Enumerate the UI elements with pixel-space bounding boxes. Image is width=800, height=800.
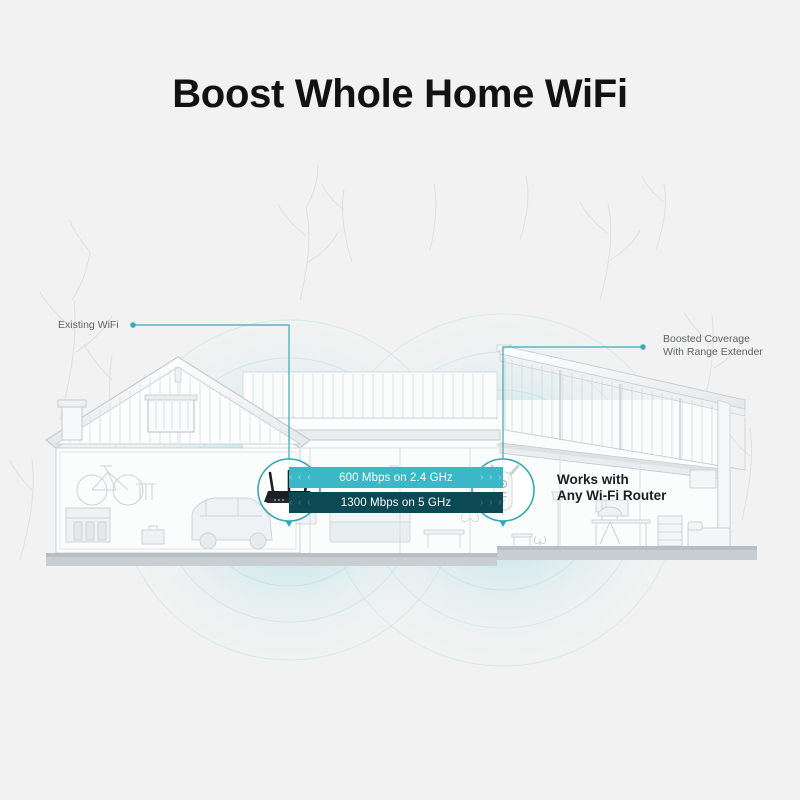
badge-speed-2-4ghz-label: 600 Mbps on 2.4 GHz (331, 472, 461, 484)
works-with-any-router-label: Works with Any Wi-Fi Router (557, 472, 666, 504)
chevrons-right-icon: › › › (480, 497, 503, 508)
badge-speed-5ghz: ‹ ‹ ‹ 1300 Mbps on 5 GHz › › › (289, 492, 503, 513)
chevrons-left-icon: ‹ ‹ ‹ (289, 497, 312, 508)
house-right-foundation (497, 546, 757, 560)
house-left (46, 357, 500, 566)
badge-speed-2-4ghz: ‹ ‹ ‹ 600 Mbps on 2.4 GHz › › › (289, 467, 503, 488)
chevrons-left-icon: ‹ ‹ ‹ (289, 472, 312, 483)
page-title: Boost Whole Home WiFi (0, 72, 800, 117)
illustration-canvas (0, 0, 800, 800)
badge-speed-5ghz-label: 1300 Mbps on 5 GHz (333, 497, 459, 509)
callout-boosted-coverage: Boosted Coverage With Range Extender (663, 333, 763, 358)
chevrons-right-icon: › › › (480, 472, 503, 483)
callout-existing-wifi: Existing WiFi (58, 319, 119, 332)
callout-dot-left (130, 322, 136, 328)
callout-dot-right (640, 344, 646, 350)
